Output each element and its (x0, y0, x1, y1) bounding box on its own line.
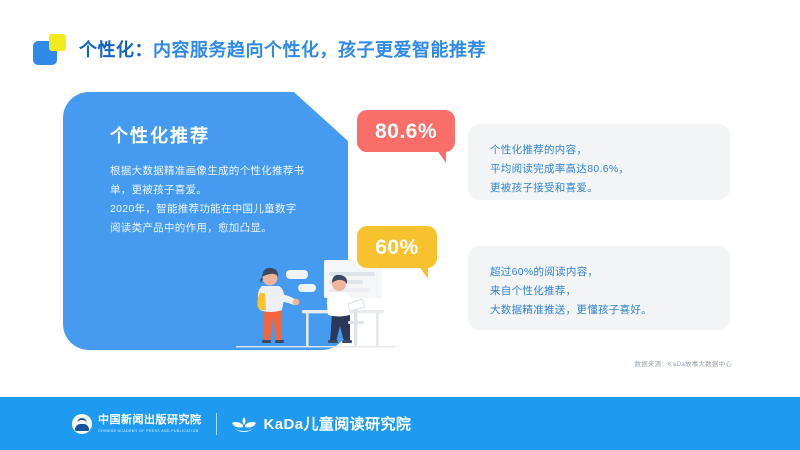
stat-bubble-60: 60% (357, 226, 437, 268)
stat-bubble-60-value: 60% (375, 237, 419, 258)
page-title-keyword: 个性化： (79, 40, 153, 60)
footer-divider (216, 413, 217, 435)
card-body: 根据大数据精准画像生成的个性化推荐书 单，更被孩子喜爱。 2020年，智能推荐功… (110, 162, 322, 238)
card-body-line: 根据大数据精准画像生成的个性化推荐书 (110, 162, 322, 181)
source-note: 数据来源：KaDa故事大数据中心 (635, 358, 732, 368)
yellow-square-icon (49, 34, 66, 51)
card-title: 个性化推荐 (110, 122, 210, 148)
panel-personalized-completion: 个性化推荐的内容， 平均阅读完成率高达80.6%， 更被孩子接受和喜爱。 (468, 124, 730, 200)
logo-chinese-academy-cn: 中国新闻出版研究院 (98, 414, 202, 427)
logo-chinese-academy: 中国新闻出版研究院 CHINESE ACADEMY OF PRESS AND P… (72, 414, 202, 434)
logo-kada-institute: KaDa儿童阅读研究院 (231, 413, 412, 434)
card-body-line: 单，更被孩子喜爱。 (110, 181, 322, 200)
page-title-rest: 内容服务趋向个性化，孩子更爱智能推荐 (153, 40, 486, 60)
sprout-hands-icon (231, 414, 257, 434)
slide-header: 个性化：内容服务趋向个性化，孩子更爱智能推荐 (33, 32, 486, 68)
stat-bubble-806-value: 80.6% (375, 121, 437, 142)
header-logo-mark (33, 34, 67, 66)
panel-line: 大数据精准推送，更懂孩子喜好。 (490, 301, 708, 320)
slide-root: 个性化：内容服务趋向个性化，孩子更爱智能推荐 个性化推荐 根据大数据精准画像生成… (0, 0, 800, 450)
card-body-line: 2020年，智能推荐功能在中国儿童数字 (110, 200, 322, 219)
panel-line: 平均阅读完成率高达80.6%， (490, 160, 708, 179)
card-body-line: 阅读类产品中的作用，愈加凸显。 (110, 219, 322, 238)
institute-seal-icon (72, 414, 92, 434)
logo-kada-institute-text: KaDa儿童阅读研究院 (264, 413, 412, 434)
panel-line: 更被孩子接受和喜爱。 (490, 179, 708, 198)
stat-bubble-806: 80.6% (357, 110, 455, 152)
panel-line: 超过60%的阅读内容， (490, 263, 708, 282)
panel-recommendation-share: 超过60%的阅读内容， 来自个性化推荐， 大数据精准推送，更懂孩子喜好。 (468, 246, 730, 330)
logo-chinese-academy-en: CHINESE ACADEMY OF PRESS AND PUBLICATION (98, 429, 202, 433)
panel-line: 来自个性化推荐， (490, 282, 708, 301)
slide-footer: 中国新闻出版研究院 CHINESE ACADEMY OF PRESS AND P… (0, 397, 800, 450)
page-title: 个性化：内容服务趋向个性化，孩子更爱智能推荐 (79, 41, 486, 59)
panel-line: 个性化推荐的内容， (490, 141, 708, 160)
